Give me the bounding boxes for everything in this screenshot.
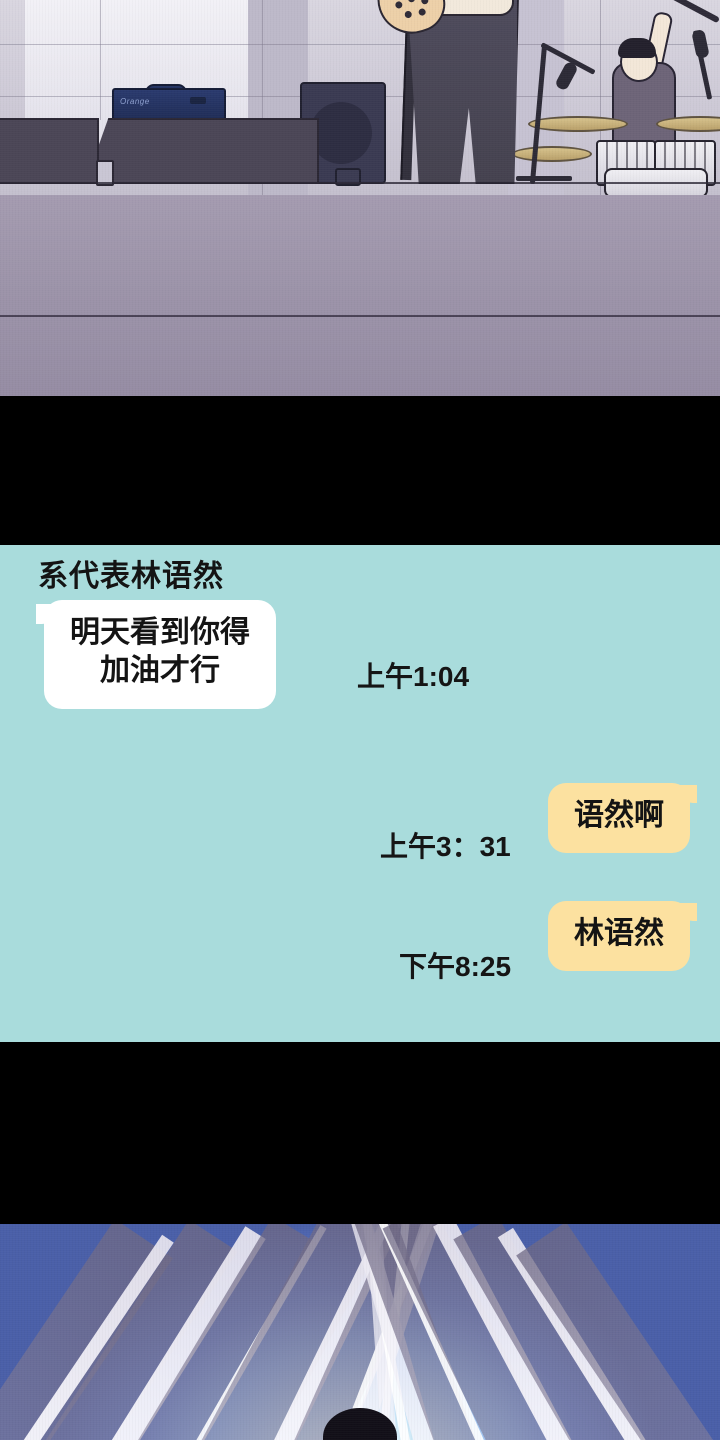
panel-grain-overlay bbox=[0, 195, 720, 396]
chat-contact-name: 系代表林语然 bbox=[38, 551, 224, 595]
panel-stage-lights bbox=[0, 1224, 720, 1440]
chat-bubble-outgoing[interactable]: 语然啊 bbox=[548, 783, 690, 853]
chat-timestamp: 下午8:25 bbox=[399, 945, 511, 985]
mic-stand-base bbox=[516, 176, 572, 181]
wall-seam-1 bbox=[0, 44, 720, 45]
chat-bubble-incoming[interactable]: 明天看到你得 加油才行 bbox=[44, 600, 276, 709]
panel-gutter-top bbox=[0, 396, 720, 545]
amp-knob bbox=[190, 97, 206, 104]
chat-timestamp: 上午3：31 bbox=[380, 825, 511, 865]
chat-timestamp: 上午1:04 bbox=[357, 655, 469, 695]
panel-stage-floor bbox=[0, 195, 720, 396]
panel-stage-band: Orange bbox=[0, 0, 720, 195]
drummer-hair bbox=[618, 38, 656, 58]
stage-monitor-center bbox=[85, 118, 319, 184]
comic-page: Orange 系代表林语然 明天看到你得 加油才行 上午1:04 语然啊 上午3… bbox=[0, 0, 720, 1440]
cymbal-hihat bbox=[512, 146, 592, 162]
panel-gutter-bottom bbox=[0, 1042, 720, 1224]
drumstick-icon bbox=[666, 0, 720, 23]
microphone-icon-right bbox=[691, 29, 710, 59]
wall-seam-5 bbox=[100, 0, 101, 120]
chat-bubble-outgoing[interactable]: 林语然 bbox=[548, 901, 690, 971]
stage-front-edge bbox=[0, 182, 720, 184]
amp-logo-text: Orange bbox=[120, 97, 150, 106]
stage-monitor-left bbox=[0, 118, 99, 184]
floor-horizon-line bbox=[0, 315, 720, 317]
cymbal-left bbox=[528, 116, 628, 132]
